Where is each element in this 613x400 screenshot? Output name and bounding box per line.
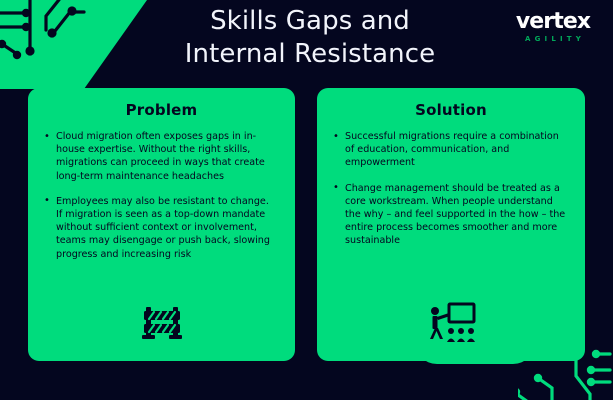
- content-cards: Problem Cloud migration often exposes ga…: [0, 88, 613, 362]
- brand-logo-wordmark: vertex: [507, 11, 599, 33]
- page-title-line-1: Skills Gaps and: [150, 5, 470, 38]
- card-problem: Problem Cloud migration often exposes ga…: [28, 88, 295, 361]
- brand-logo-subtitle: AGILITY: [507, 33, 599, 45]
- list-item: Cloud migration often exposes gaps in in…: [42, 130, 281, 183]
- brand-logo: vertex AGILITY: [507, 11, 599, 45]
- bullet-list-solution: Successful migrations require a combinat…: [331, 130, 571, 248]
- list-item: Employees may also be resistant to chang…: [42, 195, 281, 261]
- card-solution: Solution Successful migrations require a…: [317, 88, 585, 361]
- road-barrier-icon: [28, 305, 295, 341]
- slide-canvas: Skills Gaps and Internal Resistance vert…: [0, 0, 613, 400]
- training-presentation-icon: [317, 301, 585, 343]
- list-item: Successful migrations require a combinat…: [331, 130, 571, 170]
- slide-header: Skills Gaps and Internal Resistance vert…: [0, 0, 613, 88]
- page-title-line-2: Internal Resistance: [150, 38, 470, 71]
- page-title: Skills Gaps and Internal Resistance: [150, 5, 470, 71]
- bullet-list-problem: Cloud migration often exposes gaps in in…: [42, 130, 281, 261]
- card-title-solution: Solution: [331, 101, 571, 119]
- card-title-problem: Problem: [42, 101, 281, 119]
- list-item: Change management should be treated as a…: [331, 182, 571, 248]
